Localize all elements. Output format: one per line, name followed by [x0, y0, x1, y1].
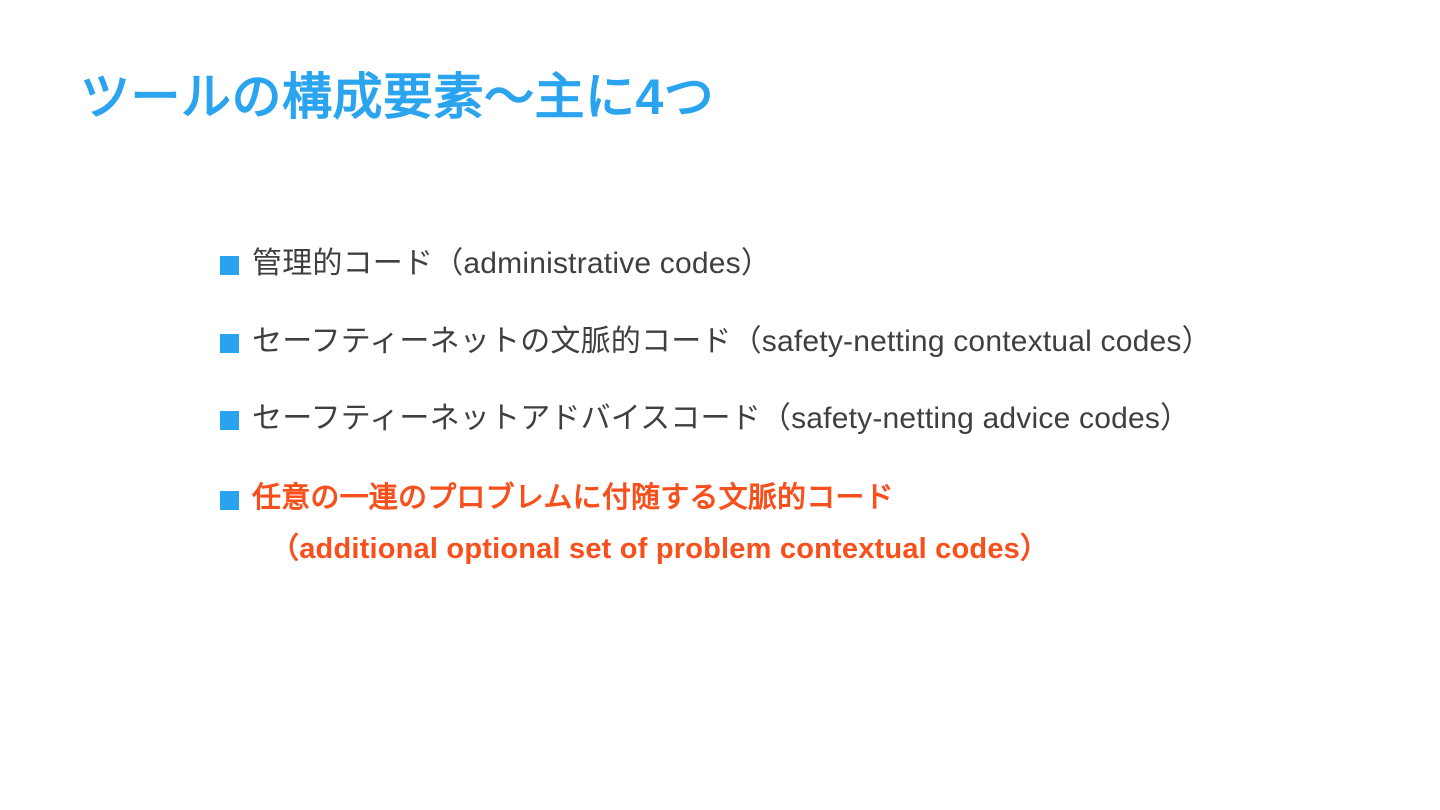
list-item: セーフティーネットアドバイスコード（safety-netting advice … [218, 393, 1338, 445]
page-title: ツールの構成要素〜主に4つ [80, 68, 714, 127]
list-item-label: セーフティーネットアドバイスコード（safety-netting advice … [252, 393, 1338, 445]
square-bullet-icon [220, 411, 239, 430]
list-item-label-secondary: （additional optional set of problem cont… [252, 526, 1338, 573]
list-item-emphasis: 任意の一連のプロブレムに付随する文脈的コード （additional optio… [218, 475, 1338, 573]
square-bullet-icon [220, 334, 239, 353]
list-item: 管理的コード（administrative codes） [218, 238, 1338, 290]
list-item-label: セーフティーネットの文脈的コード（safety-netting contextu… [252, 316, 1338, 368]
list-item-label: 管理的コード（administrative codes） [252, 238, 1338, 290]
bullet-list: 管理的コード（administrative codes） セーフティーネットの文… [218, 238, 1338, 573]
square-bullet-icon [220, 256, 239, 275]
list-item: セーフティーネットの文脈的コード（safety-netting contextu… [218, 316, 1338, 368]
slide-canvas: ツールの構成要素〜主に4つ 管理的コード（administrative code… [0, 0, 1440, 810]
list-item-label-primary: 任意の一連のプロブレムに付随する文脈的コード [252, 475, 1338, 522]
square-bullet-icon [220, 491, 239, 510]
